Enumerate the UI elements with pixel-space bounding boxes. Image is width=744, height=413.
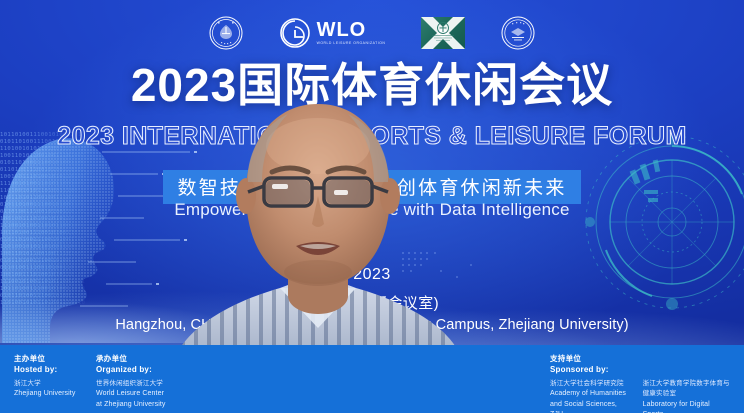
footer-organized-block: 承办单位 Organized by: 世界休闲组织浙江大学 World Leis…	[96, 353, 196, 410]
wlo-logo-subtext: WORLD LEISURE ORGANIZATION	[317, 42, 386, 45]
organized-org-cn: 世界休闲组织浙江大学	[96, 379, 196, 389]
partner-university-seal-icon	[501, 16, 535, 50]
sponsored-orgs: 浙江大学社会科学研究院 Academy of Humanities and So…	[550, 379, 730, 413]
hosted-label-cn: 主办单位	[14, 353, 86, 364]
event-date: 2023	[0, 266, 744, 284]
sponsor-footer-bar: 主办单位 Hosted by: 浙江大学 Zhejiang University…	[0, 345, 744, 413]
sponsored-org1-en-line1: Academy of Humanities	[550, 389, 631, 399]
footer-sponsored-block: 支持单位 Sponsored by: 浙江大学社会科学研究院 Academy o…	[550, 353, 730, 413]
organized-label-cn: 承办单位	[96, 353, 196, 364]
event-subtitle-chinese: 数智技术赋能新发展 共创体育休闲新未来	[163, 170, 580, 204]
organized-org-en-line2: at Zhejiang University	[96, 400, 196, 410]
event-title-english: 2023 INTERNATIONAL SPORTS & LEISURE FORU…	[0, 124, 744, 149]
event-subtitle-english: Empower Sports and Leisure with Data Int…	[0, 200, 744, 220]
conference-video-call-frame: 10110100111001010011010 0101101001110010…	[0, 0, 744, 413]
tech-hud-circle-icon	[582, 132, 744, 312]
event-venue-english: Hangzhou, CHINA (Conference Room, Zijing…	[0, 317, 744, 333]
hosted-label-en: Hosted by:	[14, 364, 86, 377]
hosted-org-en: Zhejiang University	[14, 389, 86, 399]
wlo-logo: WLO WORLD LEISURE ORGANIZATION	[279, 17, 386, 49]
event-subtitle-chinese-row: 数智技术赋能新发展 共创体育休闲新未来	[0, 170, 744, 204]
event-title-chinese: 2023国际体育休闲会议	[0, 62, 744, 108]
wlo-mark-icon	[279, 17, 311, 49]
footer-hosted-block: 主办单位 Hosted by: 浙江大学 Zhejiang University	[14, 353, 86, 400]
sponsored-org1-en-line2: and Social Sciences, ZJU	[550, 400, 631, 413]
zhejiang-university-seal-icon	[209, 16, 243, 50]
sponsored-label-cn: 支持单位	[550, 353, 730, 364]
sponsor-logo-strip: WLO WORLD LEISURE ORGANIZATION	[0, 10, 744, 56]
wlo-logo-text: WLO	[317, 20, 367, 40]
event-venue-chinese: (紫金港校区会议室)	[0, 292, 744, 313]
organized-label-en: Organized by:	[96, 364, 196, 377]
world-leisure-center-emblem-icon	[421, 17, 465, 49]
sponsored-org2-en-line1: Laboratory for Digital Sports	[643, 400, 730, 413]
sponsored-org-1: 浙江大学社会科学研究院 Academy of Humanities and So…	[550, 379, 631, 413]
hosted-org-cn: 浙江大学	[14, 379, 86, 389]
sponsored-label-en: Sponsored by:	[550, 364, 730, 377]
sponsored-org-2: 浙江大学教育学院数字体育与健康实验室 Laboratory for Digita…	[643, 379, 730, 413]
sponsored-org1-cn: 浙江大学社会科学研究院	[550, 379, 631, 389]
organized-org-en-line1: World Leisure Center	[96, 389, 196, 399]
sponsored-org2-cn: 浙江大学教育学院数字体育与健康实验室	[643, 379, 730, 400]
